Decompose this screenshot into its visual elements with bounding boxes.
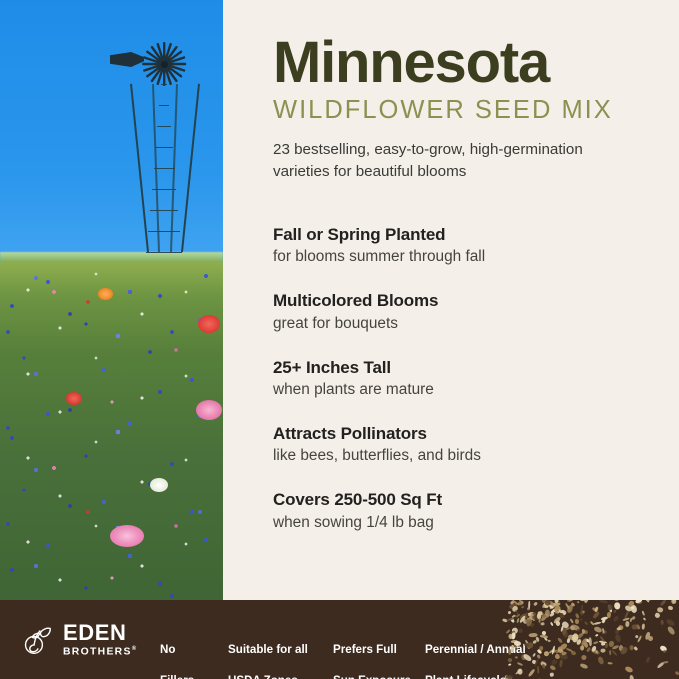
seed xyxy=(570,623,580,630)
windmill-cross-brace xyxy=(157,126,171,127)
seed xyxy=(503,618,508,622)
seed xyxy=(662,649,667,654)
brand-wordmark: EDEN BROTHERS® xyxy=(63,622,137,658)
seed xyxy=(562,627,567,635)
seed xyxy=(593,621,601,625)
seed xyxy=(608,640,615,647)
seed xyxy=(557,638,564,645)
seed xyxy=(575,612,580,618)
orange-bloom-accent xyxy=(98,288,113,300)
seed xyxy=(592,611,600,620)
seed xyxy=(576,638,582,645)
seed xyxy=(617,624,624,631)
pink-bloom-accent-2 xyxy=(196,400,222,420)
torn-soil-edge xyxy=(0,600,679,608)
feature-title: Multicolored Blooms xyxy=(273,290,665,311)
seed xyxy=(562,628,569,638)
feature-subtitle: when plants are mature xyxy=(273,380,665,400)
brand-name: EDEN xyxy=(63,622,137,644)
feature-list: Fall or Spring Planted for blooms summer… xyxy=(273,224,665,532)
seed xyxy=(615,630,620,635)
seed xyxy=(618,644,623,650)
seed xyxy=(561,626,564,633)
seed xyxy=(632,624,638,630)
seed xyxy=(525,618,531,623)
badge-sun-exposure: Prefers Full Sun Exposure xyxy=(333,626,425,679)
seed xyxy=(577,628,580,631)
seed xyxy=(611,645,619,650)
seed xyxy=(536,612,542,618)
seed xyxy=(549,649,555,654)
product-description: 23 bestselling, easy-to-grow, high-germi… xyxy=(273,139,635,182)
registered-mark: ® xyxy=(132,646,138,652)
seed xyxy=(619,646,624,651)
feature-item: Multicolored Blooms great for bouquets xyxy=(273,290,665,333)
windmill-leg xyxy=(181,84,200,252)
seed xyxy=(555,621,560,626)
seed xyxy=(510,618,515,624)
seed xyxy=(526,612,529,617)
seed xyxy=(551,658,558,665)
seed xyxy=(582,628,586,633)
seed xyxy=(554,653,560,659)
seed xyxy=(559,642,569,652)
seed xyxy=(665,618,675,627)
seed xyxy=(537,611,542,616)
seed xyxy=(594,625,603,632)
seed xyxy=(538,618,540,623)
feature-title: Attracts Pollinators xyxy=(273,423,665,444)
seed xyxy=(532,615,539,621)
content-panel: Minnesota WILDFLOWER SEED MIX 23 bestsel… xyxy=(223,0,679,614)
seed-sprout-icon xyxy=(22,623,55,656)
seed xyxy=(595,633,599,637)
seed xyxy=(570,651,576,656)
page-title: Minnesota xyxy=(273,34,665,92)
seed xyxy=(550,622,553,626)
seed xyxy=(645,631,651,640)
seed xyxy=(573,633,579,642)
badge-line-1: Perennial / Annual xyxy=(425,642,545,658)
windmill-cross-brace xyxy=(159,105,169,106)
badge-line-1: Suitable for all xyxy=(228,642,333,658)
seed xyxy=(616,626,621,630)
seed xyxy=(515,610,520,617)
seed xyxy=(537,612,546,618)
feature-subtitle: great for bouquets xyxy=(273,314,665,334)
seed xyxy=(625,621,630,628)
seed xyxy=(558,647,563,651)
seed xyxy=(579,618,583,621)
seed xyxy=(675,671,679,676)
brand-subname: BROTHERS® xyxy=(63,646,137,658)
seed xyxy=(536,613,541,619)
seed xyxy=(516,618,520,623)
seed xyxy=(511,615,515,619)
seed xyxy=(557,648,564,653)
seed xyxy=(561,620,570,629)
seed xyxy=(576,634,583,640)
seed xyxy=(522,618,528,624)
feature-subtitle: like bees, butterflies, and birds xyxy=(273,446,665,466)
badge-line-2: Fillers xyxy=(160,673,228,679)
feature-title: Fall or Spring Planted xyxy=(273,224,665,245)
seed xyxy=(600,648,605,652)
seed xyxy=(630,618,633,622)
seed xyxy=(515,614,520,618)
seed xyxy=(525,612,534,618)
seed xyxy=(654,612,661,619)
seed xyxy=(526,617,529,620)
seed xyxy=(561,652,566,656)
seed xyxy=(634,635,639,640)
windmill-cross-brace xyxy=(155,147,172,148)
seed xyxy=(597,656,605,665)
feature-item: Fall or Spring Planted for blooms summer… xyxy=(273,224,665,267)
seed xyxy=(554,608,559,614)
headline-block: Minnesota WILDFLOWER SEED MIX 23 bestsel… xyxy=(273,34,665,533)
windmill-cross-brace xyxy=(154,168,175,169)
seed xyxy=(584,638,590,643)
badge-line-2: Plant Lifecycle xyxy=(425,673,545,679)
seed xyxy=(566,647,573,651)
seed xyxy=(637,636,642,643)
seed xyxy=(623,617,630,621)
feature-item: 25+ Inches Tall when plants are mature xyxy=(273,357,665,400)
seed xyxy=(563,627,569,632)
seed xyxy=(528,613,535,621)
seed xyxy=(580,663,588,669)
seed xyxy=(588,638,592,647)
seed xyxy=(629,674,634,679)
seed xyxy=(613,610,616,613)
red-flower-layer xyxy=(0,262,223,614)
seed xyxy=(639,634,643,637)
windmill-cross-brace xyxy=(146,252,182,253)
seed xyxy=(593,649,600,654)
seed xyxy=(591,645,597,652)
feature-subtitle: when sowing 1/4 lb bag xyxy=(273,513,665,533)
seed xyxy=(527,618,531,621)
seed xyxy=(657,607,664,613)
badge-no-fillers: No Fillers xyxy=(160,626,228,679)
seed xyxy=(584,642,590,649)
seed xyxy=(560,650,566,656)
seed xyxy=(611,650,617,657)
white-bloom-accent xyxy=(150,478,168,492)
seed xyxy=(549,665,556,671)
seed xyxy=(602,627,605,632)
feature-item: Covers 250-500 Sq Ft when sowing 1/4 lb … xyxy=(273,489,665,532)
seed xyxy=(532,616,535,619)
seed xyxy=(589,621,594,626)
seed xyxy=(657,661,665,668)
seed xyxy=(581,638,588,647)
seed xyxy=(559,612,564,618)
seed xyxy=(519,613,529,621)
seed xyxy=(585,647,591,653)
windmill-cross-brace xyxy=(161,84,167,85)
footer-bar: EDEN BROTHERS® No Fillers Suitable for a… xyxy=(0,600,679,679)
seed xyxy=(569,618,574,624)
seed xyxy=(550,672,554,677)
brand-logo[interactable]: EDEN BROTHERS® xyxy=(22,622,137,658)
seed xyxy=(601,618,606,623)
red-bloom-accent-2 xyxy=(66,392,82,405)
windmill-cross-brace xyxy=(150,210,179,211)
seed xyxy=(548,640,551,642)
seed xyxy=(601,616,608,621)
seed xyxy=(615,633,622,643)
badge-line-2: USDA Zones xyxy=(228,673,333,679)
badge-plant-lifecycle: Perennial / Annual Plant Lifecycle xyxy=(425,626,545,679)
badge-line-1: Prefers Full xyxy=(333,642,425,658)
seed xyxy=(552,645,556,654)
seed xyxy=(609,650,611,655)
feature-subtitle: for blooms summer through fall xyxy=(273,247,665,267)
seed xyxy=(647,635,654,642)
product-image-card: Minnesota WILDFLOWER SEED MIX 23 bestsel… xyxy=(0,0,679,679)
seed xyxy=(559,659,563,667)
seed xyxy=(557,608,565,614)
seed xyxy=(607,612,611,618)
seed xyxy=(619,646,629,656)
badge-list: No Fillers Suitable for all USDA Zones P… xyxy=(160,626,545,679)
product-photo xyxy=(0,0,223,614)
seed xyxy=(624,610,629,619)
seed xyxy=(584,630,588,634)
seed xyxy=(592,641,598,644)
windmill-icon xyxy=(112,42,202,252)
seed xyxy=(506,617,515,622)
feature-title: 25+ Inches Tall xyxy=(273,357,665,378)
seed xyxy=(591,649,601,656)
seed xyxy=(580,645,584,650)
feature-item: Attracts Pollinators like bees, butterfl… xyxy=(273,423,665,466)
seed xyxy=(641,623,645,629)
seed xyxy=(539,612,548,622)
seed xyxy=(520,615,527,623)
wildflower-meadow xyxy=(0,262,223,614)
seed xyxy=(560,610,567,617)
seed xyxy=(643,617,646,620)
seed xyxy=(552,615,561,624)
seed xyxy=(608,662,613,665)
seed xyxy=(612,616,619,623)
seed xyxy=(569,625,575,631)
seed xyxy=(629,645,633,650)
seed xyxy=(580,654,587,661)
seed xyxy=(578,631,586,637)
windmill-cross-brace xyxy=(148,231,180,232)
seed xyxy=(645,657,650,664)
windmill-leg xyxy=(130,84,149,252)
seed xyxy=(636,624,641,630)
seed xyxy=(551,648,555,652)
seed xyxy=(550,607,558,614)
seed xyxy=(531,612,537,617)
badge-usda-zones: Suitable for all USDA Zones xyxy=(228,626,333,679)
seed xyxy=(660,645,668,652)
seed xyxy=(575,619,579,624)
windmill-tail-vane xyxy=(110,52,144,67)
seed xyxy=(558,652,568,661)
seed xyxy=(548,612,554,618)
seed xyxy=(579,610,585,615)
seed xyxy=(567,637,571,643)
seed xyxy=(567,634,577,641)
seed xyxy=(600,636,606,642)
seed xyxy=(544,609,550,618)
seed xyxy=(605,643,609,648)
seed xyxy=(633,646,637,650)
seed xyxy=(601,642,606,645)
feature-title: Covers 250-500 Sq Ft xyxy=(273,489,665,510)
badge-line-1: No xyxy=(160,642,228,658)
seed xyxy=(662,660,669,664)
seed xyxy=(508,610,512,614)
windmill-cross-brace xyxy=(152,189,177,190)
seed xyxy=(625,665,634,673)
seed xyxy=(530,613,535,622)
seed xyxy=(641,611,644,616)
seed xyxy=(562,614,565,617)
product-subtitle: WILDFLOWER SEED MIX xyxy=(273,96,665,124)
seed xyxy=(661,620,664,625)
seed xyxy=(554,608,560,614)
seed xyxy=(579,610,584,616)
red-bloom-accent xyxy=(198,315,220,333)
seed xyxy=(602,631,608,635)
seed xyxy=(599,641,607,644)
seed xyxy=(584,621,588,625)
seed xyxy=(594,651,598,655)
seed xyxy=(631,615,636,620)
badge-line-2: Sun Exposure xyxy=(333,673,425,679)
windmill-hub xyxy=(161,61,168,68)
windmill-rotor xyxy=(142,42,186,86)
pink-bloom-accent xyxy=(110,525,144,547)
seed xyxy=(667,626,676,636)
seed xyxy=(555,649,559,654)
